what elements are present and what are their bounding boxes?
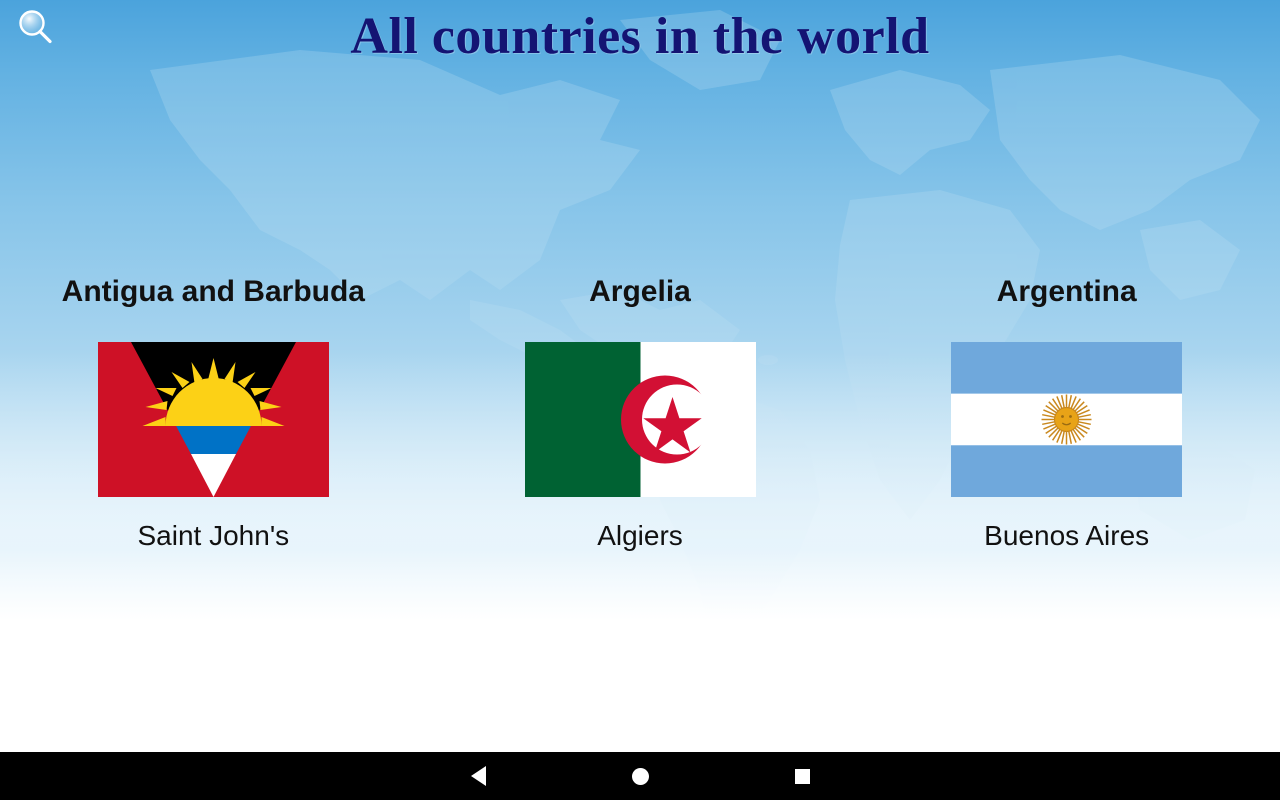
nav-home-button[interactable] — [580, 752, 700, 800]
country-card-antigua-and-barbuda[interactable]: Antigua and Barbuda — [0, 272, 427, 553]
header: All countries in the world — [0, 0, 1280, 78]
page-title: All countries in the world — [0, 6, 1280, 68]
nav-back-button[interactable] — [418, 752, 538, 800]
nav-recents-button[interactable] — [742, 752, 862, 800]
country-grid: Antigua and Barbuda — [0, 272, 1280, 553]
country-name: Antigua and Barbuda — [62, 272, 365, 312]
country-name: Argelia — [589, 272, 691, 312]
back-triangle-icon — [471, 766, 486, 786]
capital-name: Algiers — [597, 519, 683, 553]
flag-argentina-icon[interactable] — [951, 342, 1182, 497]
country-name: Argentina — [997, 272, 1137, 312]
android-navigation-bar — [0, 752, 1280, 800]
country-card-argelia[interactable]: Argelia Alg — [427, 272, 854, 553]
country-card-argentina[interactable]: Argentina — [853, 272, 1280, 553]
capital-name: Buenos Aires — [984, 519, 1149, 553]
capital-name: Saint John's — [138, 519, 290, 553]
recents-square-icon — [795, 769, 810, 784]
flag-antigua-and-barbuda-icon[interactable] — [98, 342, 329, 497]
flag-algeria-icon[interactable] — [525, 342, 756, 497]
app-root: All countries in the world Antigua and B… — [0, 0, 1280, 800]
home-circle-icon — [632, 768, 649, 785]
